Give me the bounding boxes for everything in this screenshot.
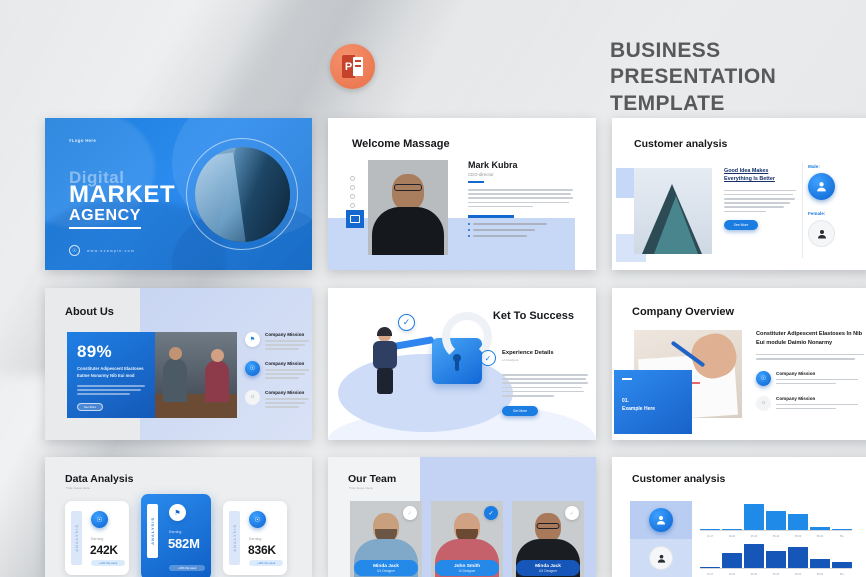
cover-logo: #Logo Here: [69, 138, 96, 143]
body-text: [756, 354, 864, 360]
person-details: Mark Kubra CEO-director: [468, 160, 573, 237]
stat-label-male: Male:: [808, 164, 866, 169]
card-trend-pill: +18% this week: [249, 560, 283, 566]
slide-grid: #Logo Here Digital MARKET AGENCY ☉ www.e…: [0, 118, 866, 577]
page-title: BUSINESS PRESENTATION TEMPLATE: [610, 38, 776, 117]
globe-icon: ☉: [245, 361, 260, 376]
slide-customer-analysis-2[interactable]: Customer analysis 13-1718-2425-3435-4445…: [612, 457, 866, 577]
slide-title: Customer analysis: [634, 138, 727, 150]
badge-number: 01.: [622, 398, 684, 404]
check-circle-icon[interactable]: ✓: [484, 506, 498, 520]
axis-line: [700, 568, 852, 569]
list-item[interactable]: ☉ Company Mission: [756, 371, 864, 386]
architecture-photo: [634, 168, 712, 254]
axis-tick-label: 25-34: [744, 535, 764, 538]
body-text: [265, 398, 309, 408]
mission-title: Company Mission: [776, 396, 858, 401]
card-tab: ANALYSIS: [71, 511, 82, 565]
axis-line: [700, 530, 852, 531]
card-trend-pill: +30% this week: [169, 565, 205, 571]
body-text: [265, 369, 309, 379]
idea-icon: ☼: [756, 396, 771, 411]
divider: [468, 215, 514, 218]
section-heading: Good Idea Makes Everything Is Better: [724, 168, 796, 184]
slide-key-to-success[interactable]: ✓ Ket To Success ✓ Experience Details of…: [328, 288, 596, 440]
member-nameplate: John Smith UI Designer: [435, 560, 499, 576]
cover-footer: ☉ www.example.com: [69, 245, 135, 256]
axis-tick-labels: 13-1718-2425-3435-4445-5455-6465+: [700, 535, 852, 538]
analysis-card-highlight[interactable]: ANALYSIS ⚑ Earning 582M +30% this week: [141, 494, 211, 577]
slide-data-analysis[interactable]: Data Analysis Title Goes Here ANALYSIS ☉…: [45, 457, 312, 577]
section-heading: Experience Details: [502, 350, 554, 358]
card-tab-label: ANALYSIS: [150, 517, 155, 545]
card-tab: ANALYSIS: [229, 511, 240, 565]
list-item[interactable]: ☉ Company Mission: [245, 361, 307, 379]
globe-icon: ☉: [756, 371, 771, 386]
person-illustration: [370, 328, 402, 396]
card-trend-pill: +10% this week: [91, 560, 125, 566]
person-name: Mark Kubra: [468, 160, 573, 170]
person-photo: [368, 160, 448, 255]
badge-text: Example Here: [622, 406, 684, 412]
bar: [832, 562, 852, 568]
bar: [788, 514, 808, 530]
list-item: [468, 235, 573, 237]
example-badge: 01. Example Here: [614, 370, 692, 434]
body-text: [776, 404, 858, 410]
member-role: UX Designer: [377, 569, 395, 573]
card-value: 582M: [168, 536, 200, 551]
member-nameplate: Minda Jack UX Designer: [354, 560, 418, 576]
user-icon: [808, 173, 835, 200]
gender-stats: Male: Female:: [808, 164, 866, 247]
axis-tick-label: 13-17: [700, 535, 720, 538]
idea-icon: ☼: [245, 390, 260, 405]
experience-block: ✓ Experience Details of Analysis Get Mor…: [480, 350, 588, 416]
list-item[interactable]: ☼ Company Mission: [245, 390, 307, 408]
page-header: P BUSINESS PRESENTATION TEMPLATE: [0, 0, 866, 118]
cover-building-photo: [195, 147, 290, 242]
axis-tick-label: 18-24: [722, 573, 742, 576]
globe-icon: ☉: [91, 511, 108, 528]
team-photo: [155, 332, 237, 418]
check-circle-icon[interactable]: ✓: [565, 506, 579, 520]
bar: [766, 551, 786, 568]
bar-series: [700, 504, 852, 530]
check-circle-icon[interactable]: ✓: [403, 506, 417, 520]
slide-title: Customer analysis: [632, 473, 725, 485]
decor-dots: [350, 176, 355, 208]
list-item: [468, 223, 573, 225]
stat-card: 89% Constituter Adipescent Elastoses Eat…: [67, 332, 155, 418]
user-icon: [808, 220, 835, 247]
analysis-card[interactable]: ANALYSIS ☉ Earning 242K +10% this week: [65, 501, 129, 575]
axis-tick-label: 45-54: [788, 573, 808, 576]
bar: [788, 547, 808, 568]
axis-tick-label: 35-44: [766, 535, 786, 538]
slide-title: Company Overview: [632, 306, 734, 318]
cover-url: www.example.com: [87, 249, 135, 253]
page-title-line-3: TEMPLATE: [610, 91, 776, 117]
check-circle-icon: ✓: [480, 350, 496, 366]
analysis-text-block: Good Idea Makes Everything Is Better See…: [724, 168, 796, 230]
bar: [722, 553, 742, 568]
get-more-button[interactable]: Get More: [502, 406, 538, 416]
card-value: 836K: [248, 543, 276, 557]
overview-text-block: Constituter Adipescent Elastoses In Nib …: [756, 330, 864, 411]
card-label: Earning: [169, 530, 181, 534]
mission-list: ⚑ Company Mission ☉ Company Mission ☼ Co…: [245, 332, 307, 408]
slide-welcome[interactable]: Welcome Massage Mark Kubra CEO-director: [328, 118, 596, 270]
section-subheading: of Analysis: [502, 358, 554, 362]
axis-tick-label: 13-17: [700, 573, 720, 576]
see-more-button[interactable]: See More: [77, 403, 103, 411]
slide-title: Our Team: [348, 473, 396, 485]
team-member-card[interactable]: ✓ Minda Jack UX Designer: [350, 501, 422, 577]
cover-image-frame: [186, 138, 298, 250]
body-text: [776, 379, 858, 385]
member-role: UX Designer: [539, 569, 557, 573]
axis-tick-labels: 13-1718-2425-3435-4445-5455-6465+: [700, 573, 852, 576]
analysis-card[interactable]: ANALYSIS ☉ Earning 836K +18% this week: [223, 501, 287, 575]
card-tab: ANALYSIS: [147, 504, 158, 558]
body-text: [468, 189, 573, 207]
member-nameplate: Minda Jack UX Designer: [516, 560, 580, 576]
person-role: CEO-director: [468, 172, 573, 177]
check-circle-icon: ✓: [398, 314, 415, 331]
padlock-illustration: [432, 338, 482, 384]
page-title-line-2: PRESENTATION: [610, 64, 776, 90]
axis-tick-label: 55-64: [810, 535, 830, 538]
body-text: [77, 385, 145, 395]
globe-icon: ☉: [249, 511, 266, 528]
body-text: [724, 190, 796, 213]
user-icon: [649, 508, 673, 532]
bar: [744, 544, 764, 568]
stat-caption: Constituter Adipescent Elastoses Eatme N…: [77, 366, 145, 379]
flag-icon: ⚑: [245, 332, 260, 347]
mission-title: Company Mission: [265, 332, 309, 337]
axis-tick-label: 45-54: [788, 535, 808, 538]
member-role: UI Designer: [459, 569, 476, 573]
slide-our-team[interactable]: Our Team Title Goes Here ✓ Minda Jack UX…: [328, 457, 596, 577]
axis-tick-label: 55-64: [810, 573, 830, 576]
card-tab-label: ANALYSIS: [232, 524, 237, 552]
analysis-card-list: ANALYSIS ☉ Earning 242K +10% this week A…: [65, 501, 287, 577]
user-icon: [649, 546, 673, 570]
gender-cell-male: [630, 501, 692, 539]
body-text: [265, 340, 309, 350]
slide-company-overview[interactable]: Company Overview 01. Example Here Consti…: [612, 288, 866, 440]
bar: [744, 504, 764, 530]
bar: [810, 559, 830, 568]
slide-cover[interactable]: #Logo Here Digital MARKET AGENCY ☉ www.e…: [45, 118, 312, 270]
flag-icon: ⚑: [169, 504, 186, 521]
slide-title: About Us: [65, 306, 114, 318]
card-value: 242K: [90, 543, 118, 557]
stat-percent: 89%: [77, 342, 145, 362]
chat-icon: [346, 210, 364, 228]
mission-list: ☉ Company Mission ☼ Company Mission: [756, 371, 864, 411]
section-heading: Constituter Adipescent Elastoses In Nib …: [756, 330, 864, 348]
axis-tick-label: 65+: [832, 535, 852, 538]
slide-customer-analysis-1[interactable]: Customer analysis Good Idea Makes Everyt…: [612, 118, 866, 270]
powerpoint-icon: P: [330, 44, 375, 89]
body-text: [502, 374, 588, 397]
mission-title: Company Mission: [265, 361, 309, 366]
slide-about-us[interactable]: About Us 89% Constituter Adipescent Elas…: [45, 288, 312, 440]
cover-title: MARKET: [69, 181, 175, 209]
slide-title: Ket To Success: [444, 310, 574, 322]
bullet-list: [468, 223, 573, 237]
bar-series: [700, 542, 852, 568]
axis-tick-label: 18-24: [722, 535, 742, 538]
see-more-button[interactable]: See More: [724, 220, 758, 230]
slide-title: Welcome Massage: [352, 138, 450, 150]
slide-title: Data Analysis: [65, 473, 133, 485]
axis-tick-label: 25-34: [744, 573, 764, 576]
slide-subtitle: Title Goes Here: [349, 486, 373, 490]
divider: [802, 162, 803, 258]
gender-cell-female: [630, 539, 692, 577]
axis-tick-label: 35-44: [766, 573, 786, 576]
mission-title: Company Mission: [265, 390, 309, 395]
team-member-list: ✓ Minda Jack UX Designer ✓ John Smith UI…: [350, 501, 584, 577]
stat-label-female: Female:: [808, 211, 866, 216]
slide-subtitle: Title Goes Here: [66, 486, 90, 490]
axis-tick-label: 65+: [832, 573, 852, 576]
bar-chart-male: 13-1718-2425-3435-4445-5455-6465+: [700, 501, 852, 539]
card-tab-label: ANALYSIS: [74, 524, 79, 552]
mission-title: Company Mission: [776, 371, 858, 376]
gender-icon-strip: [630, 501, 692, 577]
globe-icon: ☉: [69, 245, 80, 256]
divider: [468, 181, 484, 183]
card-label: Earning: [91, 537, 103, 541]
card-label: Earning: [249, 537, 261, 541]
list-item[interactable]: ☼ Company Mission: [756, 396, 864, 411]
cover-subtitle: AGENCY: [69, 207, 141, 229]
bar: [766, 511, 786, 530]
team-member-card[interactable]: ✓ John Smith UI Designer: [431, 501, 503, 577]
page-title-line-1: BUSINESS: [610, 38, 776, 64]
list-item[interactable]: ⚑ Company Mission: [245, 332, 307, 350]
team-member-card[interactable]: ✓ Minda Jack UX Designer: [512, 501, 584, 577]
bar-chart-female: 13-1718-2425-3435-4445-5455-6465+: [700, 539, 852, 577]
list-item: [468, 229, 573, 231]
